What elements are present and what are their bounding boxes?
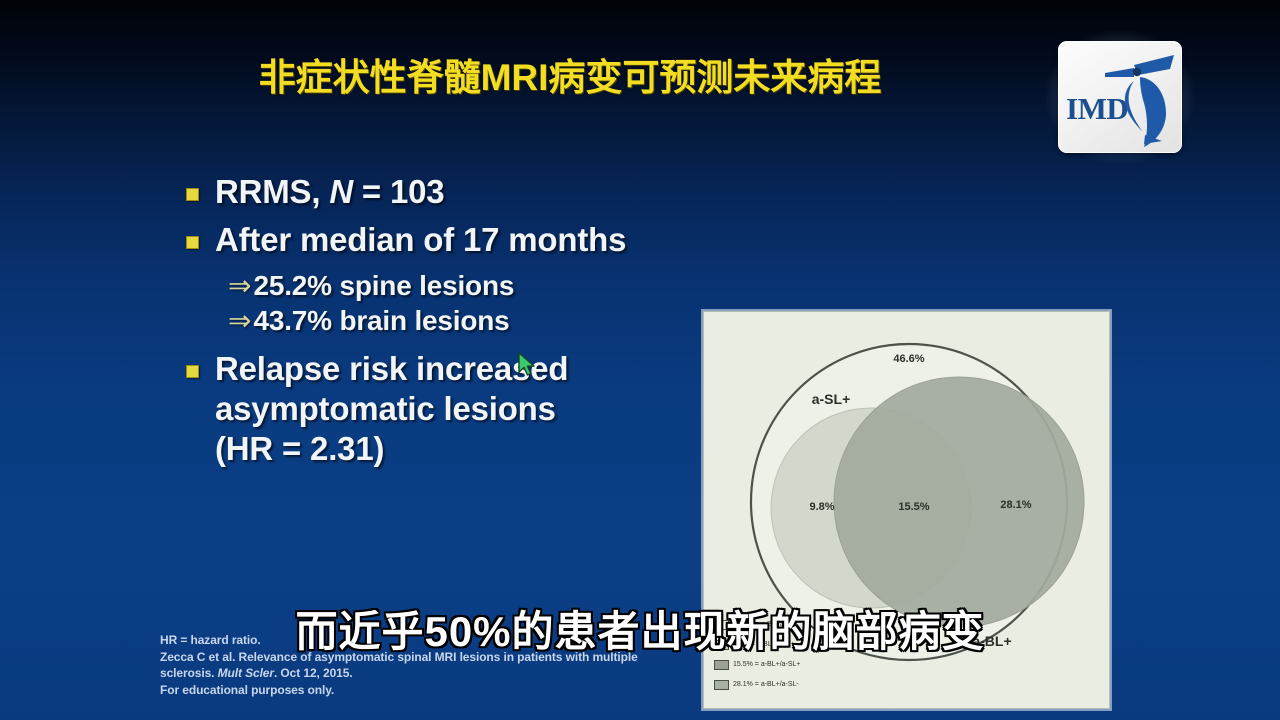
square-bullet-icon <box>186 365 199 378</box>
venn-legend-swatch <box>714 680 729 690</box>
bullet-item-3-label: Relapse risk increased asymptomatic lesi… <box>215 349 568 470</box>
footnote-line-3: For educational purposes only. <box>160 682 680 699</box>
bullet-item-2-label: After median of 17 months <box>215 220 626 260</box>
venn-outer-value: 46.6% <box>893 353 924 365</box>
square-bullet-icon <box>186 236 199 249</box>
bullet-item-3-line3: (HR = 2.31) <box>215 429 568 469</box>
bullet-item-1-label: RRMS, N = 103 <box>215 172 444 212</box>
bullet-item-3-line1: Relapse risk increased <box>215 349 568 389</box>
venn-value-a-sl-only: 9.8% <box>809 501 834 513</box>
sub-bullet-item-2: ⇒ 43.7% brain lesions <box>228 304 746 337</box>
bullet-list: RRMS, N = 103 After median of 17 months … <box>186 172 746 477</box>
slide-canvas: 非症状性脊髓MRI病变可预测未来病程 IMD <box>0 0 1280 720</box>
square-bullet-icon <box>186 188 199 201</box>
venn-value-overlap: 15.5% <box>898 501 929 513</box>
sub-bullet-item-1: ⇒ 25.2% spine lesions <box>228 269 746 302</box>
venn-legend-row: 15.5% = a-BL+/a-SL+ <box>714 660 964 670</box>
bullet-item-3: Relapse risk increased asymptomatic lesi… <box>186 349 746 470</box>
sub-bullet-item-1-label: 25.2% spine lesions <box>253 270 514 302</box>
bullet-item-3-line2: asymptomatic lesions <box>215 389 568 429</box>
venn-label-a-sl: a-SL+ <box>812 391 851 407</box>
bullet-item-1: RRMS, N = 103 <box>186 172 746 212</box>
double-arrow-icon: ⇒ <box>228 304 251 337</box>
venn-legend-row: 28.1% = a-BL+/a-SL- <box>714 680 964 690</box>
sub-bullet-item-2-label: 43.7% brain lesions <box>253 305 509 337</box>
double-arrow-icon: ⇒ <box>228 269 251 302</box>
venn-legend-label: 15.5% = a-BL+/a-SL+ <box>733 661 801 668</box>
venn-legend-label: 28.1% = a-BL+/a-SL- <box>733 681 799 688</box>
venn-circle-a-bl <box>834 377 1084 627</box>
venn-value-a-bl-only: 28.1% <box>1000 499 1031 511</box>
video-caption: 而近乎50%的患者出现新的脑部病变 <box>0 598 1280 659</box>
brand-logo: IMD <box>1046 30 1194 164</box>
kingfisher-bird-icon <box>1104 47 1178 153</box>
bullet-item-2: After median of 17 months <box>186 220 746 260</box>
logo-card: IMD <box>1058 41 1182 153</box>
venn-legend-swatch <box>714 660 729 670</box>
